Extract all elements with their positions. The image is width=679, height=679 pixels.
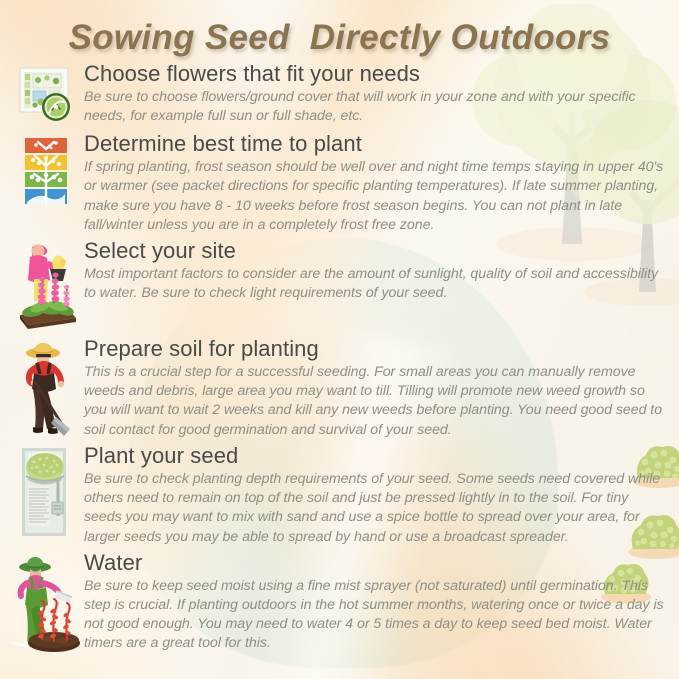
seed-packet-icon	[16, 446, 76, 538]
step-text: Be sure to keep seed moist using a fine …	[84, 577, 667, 654]
infographic-poster: Sowing Seed Directly Outdoors	[0, 0, 679, 679]
step-icon-slot	[10, 551, 82, 653]
step-body: Choose flowers that fit your needs Be su…	[82, 62, 671, 126]
step-title: Determine best time to plant	[84, 132, 667, 157]
step-body: Select your site Most important factors …	[82, 239, 671, 303]
step-text: Be sure to check planting depth requirem…	[84, 470, 667, 547]
step-title: Water	[84, 551, 667, 576]
step-item: Water Be sure to keep seed moist using a…	[0, 551, 679, 654]
gardener-with-shovel-icon	[15, 339, 77, 439]
gardener-with-flowerbed-icon	[12, 239, 80, 331]
step-title: Select your site	[84, 239, 667, 264]
step-icon-slot	[10, 444, 82, 538]
step-body: Prepare soil for planting This is a cruc…	[82, 337, 671, 440]
step-text: This is a crucial step for a successful …	[84, 363, 667, 440]
step-body: Plant your seed Be sure to check plantin…	[82, 444, 671, 547]
gardener-watering-icon	[10, 553, 82, 653]
step-body: Determine best time to plant If spring p…	[82, 132, 671, 235]
step-icon-slot	[10, 62, 82, 126]
garden-plan-icon	[16, 64, 76, 126]
step-text: If spring planting, frost season should …	[84, 158, 667, 235]
step-item: Plant your seed Be sure to check plantin…	[0, 444, 679, 547]
step-icon-slot	[10, 132, 82, 208]
four-seasons-icon	[19, 136, 73, 208]
steps-list: Choose flowers that fit your needs Be su…	[0, 62, 679, 654]
step-item: Prepare soil for planting This is a cruc…	[0, 337, 679, 440]
step-item: Determine best time to plant If spring p…	[0, 132, 679, 235]
poster-title: Sowing Seed Directly Outdoors	[0, 18, 679, 58]
step-item: Choose flowers that fit your needs Be su…	[0, 62, 679, 126]
step-icon-slot	[10, 337, 82, 439]
step-item: Select your site Most important factors …	[0, 239, 679, 331]
step-title: Choose flowers that fit your needs	[84, 62, 667, 87]
step-title: Plant your seed	[84, 444, 667, 469]
step-icon-slot	[10, 239, 82, 331]
step-title: Prepare soil for planting	[84, 337, 667, 362]
step-body: Water Be sure to keep seed moist using a…	[82, 551, 671, 654]
step-text: Most important factors to consider are t…	[84, 265, 667, 304]
step-text: Be sure to choose flowers/ground cover t…	[84, 88, 667, 127]
